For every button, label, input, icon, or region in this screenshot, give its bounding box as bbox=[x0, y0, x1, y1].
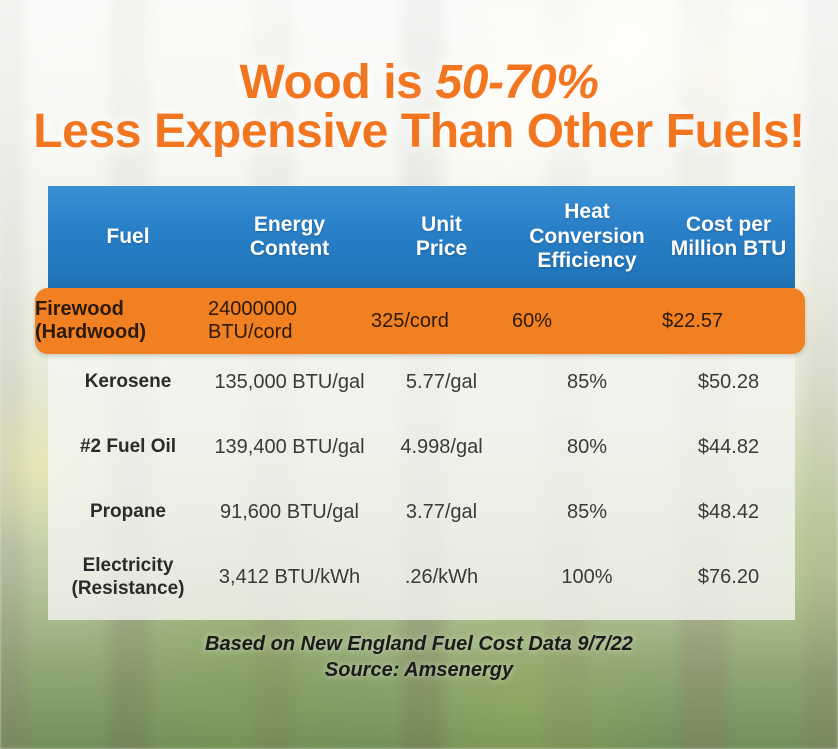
column-header-efficiency-line-1: Heat bbox=[512, 200, 662, 224]
cell-fuel-name-line-2: (Hardwood) bbox=[35, 321, 208, 344]
cell-efficiency: 100% bbox=[512, 566, 662, 590]
cell-energy-content: 24000000 BTU/cord bbox=[208, 298, 371, 344]
cell-cost-per-million-btu: $50.28 bbox=[662, 371, 795, 395]
column-header-cost-line-1: Cost per bbox=[662, 213, 795, 237]
cell-cost-per-million-btu: $48.42 bbox=[662, 501, 795, 525]
cell-fuel-name: Propane bbox=[48, 501, 208, 523]
cell-efficiency: 85% bbox=[512, 501, 662, 525]
column-header-efficiency-line-2: Conversion bbox=[512, 225, 662, 249]
title-line-1-prefix: Wood is bbox=[240, 56, 436, 109]
cell-fuel-name-line-1: #2 Fuel Oil bbox=[48, 436, 208, 458]
cell-fuel-name: Firewood (Hardwood) bbox=[35, 298, 208, 344]
table-header-row: Fuel Energy Content Unit Price Heat Conv… bbox=[48, 186, 795, 288]
cell-efficiency: 60% bbox=[512, 310, 662, 333]
cell-unit-price: 3.77/gal bbox=[371, 501, 512, 525]
column-header-efficiency-line-3: Efficiency bbox=[512, 249, 662, 273]
cell-cost-per-million-btu: $22.57 bbox=[662, 310, 805, 333]
cell-fuel-name-line-1: Kerosene bbox=[48, 371, 208, 393]
cell-unit-price: .26/kWh bbox=[371, 566, 512, 590]
source-attribution-line-2: Source: Amsenergy bbox=[0, 658, 838, 684]
cell-fuel-name-line-2: (Resistance) bbox=[48, 578, 208, 600]
cell-energy-content: 91,600 BTU/gal bbox=[208, 501, 371, 525]
cell-cost-per-million-btu: $76.20 bbox=[662, 566, 795, 590]
cell-fuel-name-line-1: Propane bbox=[48, 501, 208, 523]
cell-energy-content: 135,000 BTU/gal bbox=[208, 371, 371, 395]
table-row: Kerosene 135,000 BTU/gal 5.77/gal 85% $5… bbox=[48, 350, 795, 415]
column-header-fuel: Fuel bbox=[48, 225, 208, 249]
cell-fuel-name: Kerosene bbox=[48, 371, 208, 393]
source-attribution: Based on New England Fuel Cost Data 9/7/… bbox=[0, 632, 838, 683]
infographic-poster: Wood is 50-70% Less Expensive Than Other… bbox=[0, 0, 838, 749]
table-row-highlighted-firewood: Firewood (Hardwood) 24000000 BTU/cord 32… bbox=[35, 288, 805, 354]
page-title: Wood is 50-70% Less Expensive Than Other… bbox=[0, 58, 838, 157]
table-row: #2 Fuel Oil 139,400 BTU/gal 4.998/gal 80… bbox=[48, 415, 795, 480]
cell-fuel-name: Electricity (Resistance) bbox=[48, 555, 208, 600]
column-header-unit-price-line-1: Unit bbox=[371, 213, 512, 237]
column-header-heat-conversion-efficiency: Heat Conversion Efficiency bbox=[512, 200, 662, 273]
column-header-unit-price: Unit Price bbox=[371, 213, 512, 262]
cell-cost-per-million-btu: $44.82 bbox=[662, 436, 795, 460]
cell-fuel-name-line-1: Firewood bbox=[35, 298, 208, 321]
cell-unit-price: 4.998/gal bbox=[371, 436, 512, 460]
cell-efficiency: 85% bbox=[512, 371, 662, 395]
table-row: Electricity (Resistance) 3,412 BTU/kWh .… bbox=[48, 545, 795, 610]
cell-unit-price: 5.77/gal bbox=[371, 371, 512, 395]
cell-energy-content: 139,400 BTU/gal bbox=[208, 436, 371, 460]
column-header-energy-content-line-1: Energy bbox=[208, 213, 371, 237]
cell-efficiency: 80% bbox=[512, 436, 662, 460]
column-header-fuel-label: Fuel bbox=[48, 225, 208, 249]
cell-fuel-name: #2 Fuel Oil bbox=[48, 436, 208, 458]
source-attribution-line-1: Based on New England Fuel Cost Data 9/7/… bbox=[0, 632, 838, 658]
column-header-cost-line-2: Million BTU bbox=[662, 237, 795, 261]
column-header-unit-price-line-2: Price bbox=[371, 237, 512, 261]
column-header-energy-content-line-2: Content bbox=[208, 237, 371, 261]
title-line-2: Less Expensive Than Other Fuels! bbox=[0, 107, 838, 156]
column-header-cost-per-million-btu: Cost per Million BTU bbox=[662, 213, 795, 262]
cell-energy-content: 3,412 BTU/kWh bbox=[208, 566, 371, 590]
column-header-energy-content: Energy Content bbox=[208, 213, 371, 262]
cell-unit-price: 325/cord bbox=[371, 310, 512, 333]
title-line-1: Wood is 50-70% bbox=[0, 58, 838, 107]
cell-fuel-name-line-1: Electricity bbox=[48, 555, 208, 577]
table-row: Propane 91,600 BTU/gal 3.77/gal 85% $48.… bbox=[48, 480, 795, 545]
fuel-comparison-table: Fuel Energy Content Unit Price Heat Conv… bbox=[48, 186, 795, 620]
title-line-1-emphasis: 50-70% bbox=[435, 56, 598, 109]
